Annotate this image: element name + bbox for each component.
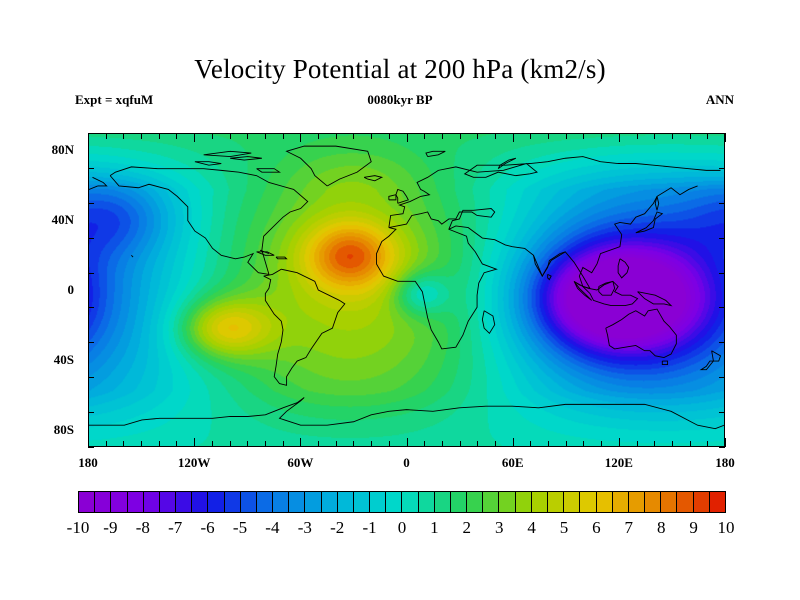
coastline-path [636, 212, 663, 233]
axis-tick [719, 273, 725, 274]
coastline-path [195, 162, 221, 165]
colorbar-cell [710, 492, 725, 512]
season-label: ANN [706, 92, 734, 108]
colorbar-cell [111, 492, 127, 512]
axis-tick [442, 133, 443, 139]
axis-tick [513, 133, 514, 142]
coastline-path [364, 176, 382, 181]
axis-tick [424, 133, 425, 139]
axis-tick [654, 441, 655, 447]
axis-tick [159, 441, 160, 447]
colorbar-cell [451, 492, 467, 512]
axis-tick [654, 133, 655, 139]
map-plot-area [88, 133, 725, 447]
coastline-path [89, 398, 724, 429]
colorbar-cell [305, 492, 321, 512]
colorbar-cell [483, 492, 499, 512]
coastline-path [574, 281, 638, 305]
x-axis-tick-label: 180 [58, 455, 118, 471]
colorbar-cell [144, 492, 160, 512]
coastline-path [606, 309, 677, 357]
coastline-path [264, 269, 345, 385]
axis-tick [672, 441, 673, 447]
colorbar-cell [128, 492, 144, 512]
axis-tick [619, 133, 620, 142]
coastline-path [574, 281, 592, 300]
coastline-path [89, 186, 98, 189]
axis-tick [566, 441, 567, 447]
axis-tick [690, 133, 691, 139]
coastline-path [662, 361, 667, 364]
coastline-path [701, 351, 720, 370]
colorbar-cell [694, 492, 710, 512]
colorbar-cell [580, 492, 596, 512]
axis-tick [141, 133, 142, 139]
axis-tick [719, 342, 725, 343]
axis-tick [407, 133, 408, 142]
axis-tick [88, 447, 94, 448]
x-axis-tick-label: 180 [695, 455, 755, 471]
experiment-label: Expt = xqfuM [75, 92, 153, 108]
coastline-path [276, 257, 287, 259]
coastline-path [110, 167, 308, 275]
axis-tick [371, 441, 372, 447]
axis-tick [212, 441, 213, 447]
axis-tick [283, 133, 284, 139]
axis-tick [601, 441, 602, 447]
axis-tick [176, 441, 177, 447]
axis-tick [719, 412, 725, 413]
axis-tick [247, 133, 248, 139]
axis-tick [707, 133, 708, 139]
axis-tick [513, 438, 514, 447]
axis-tick [707, 441, 708, 447]
axis-tick [88, 273, 94, 274]
axis-tick [719, 238, 725, 239]
axis-tick [672, 133, 673, 139]
axis-tick [389, 441, 390, 447]
axis-tick [637, 133, 638, 139]
axis-tick [123, 133, 124, 139]
axis-tick [88, 307, 94, 308]
axis-tick [106, 133, 107, 139]
x-axis-tick-label: 60W [270, 455, 330, 471]
y-axis-tick-label: 80N [28, 142, 74, 158]
axis-tick [318, 133, 319, 139]
axis-tick [159, 133, 160, 139]
colorbar-cell [564, 492, 580, 512]
colorbar-cell [435, 492, 451, 512]
axis-tick [619, 438, 620, 447]
axis-tick [719, 447, 725, 448]
axis-tick [230, 133, 231, 139]
x-axis-tick-label: 60E [483, 455, 543, 471]
x-axis-tick-label: 120W [164, 455, 224, 471]
coastline-path [618, 259, 629, 278]
colorbar [78, 491, 726, 513]
axis-tick [88, 377, 94, 378]
coastline-path [548, 274, 551, 279]
colorbar-cell [548, 492, 564, 512]
colorbar-cell [289, 492, 305, 512]
axis-tick [460, 441, 461, 447]
axis-tick [106, 441, 107, 447]
axis-tick [88, 412, 94, 413]
colorbar-tick-label: 10 [703, 518, 749, 538]
colorbar-cell [532, 492, 548, 512]
coastline-path [131, 255, 133, 257]
axis-tick [194, 133, 195, 142]
axis-tick [371, 133, 372, 139]
axis-tick [230, 441, 231, 447]
x-axis-tick-label: 120E [589, 455, 649, 471]
axis-tick [719, 377, 725, 378]
axis-tick [442, 441, 443, 447]
colorbar-cell [338, 492, 354, 512]
axis-tick [637, 441, 638, 447]
axis-tick [389, 133, 390, 139]
colorbar-cell [402, 492, 418, 512]
axis-tick [88, 168, 94, 169]
axis-tick [88, 238, 94, 239]
axis-tick [353, 133, 354, 139]
colorbar-cell [208, 492, 224, 512]
axis-tick [88, 203, 94, 204]
coastline-path [638, 292, 671, 306]
colorbar-cell [354, 492, 370, 512]
axis-tick [690, 441, 691, 447]
axis-tick [719, 168, 725, 169]
colorbar-cell [386, 492, 402, 512]
axis-tick [194, 438, 195, 447]
axis-tick [601, 133, 602, 139]
axis-tick [88, 438, 89, 447]
axis-tick [548, 441, 549, 447]
colorbar-cell [629, 492, 645, 512]
axis-tick [300, 133, 301, 142]
axis-tick [141, 441, 142, 447]
coastline-overlay [89, 134, 724, 446]
colorbar-cell [677, 492, 693, 512]
axis-tick [407, 438, 408, 447]
y-axis-tick-label: 40N [28, 212, 74, 228]
coastline-path [204, 151, 252, 156]
axis-tick [123, 441, 124, 447]
axis-tick [336, 441, 337, 447]
axis-tick [353, 441, 354, 447]
axis-tick [477, 441, 478, 447]
axis-tick [265, 133, 266, 139]
coastline-path [449, 186, 698, 288]
axis-tick [88, 342, 94, 343]
colorbar-cell [176, 492, 192, 512]
axis-tick [583, 133, 584, 139]
axis-tick [88, 133, 89, 142]
axis-tick [495, 133, 496, 139]
colorbar-cell [645, 492, 661, 512]
axis-tick [725, 438, 726, 447]
coastline-path [426, 151, 445, 156]
axis-tick [300, 438, 301, 447]
axis-tick [548, 133, 549, 139]
coastline-path [396, 189, 408, 203]
velocity-potential-figure: Velocity Potential at 200 hPa (km2/s) 00… [0, 0, 800, 600]
axis-tick [477, 133, 478, 139]
colorbar-cell [661, 492, 677, 512]
axis-tick [566, 133, 567, 139]
y-axis-tick-label: 40S [28, 352, 74, 368]
axis-tick [530, 133, 531, 139]
colorbar-cell [613, 492, 629, 512]
axis-tick [176, 133, 177, 139]
colorbar-cell [160, 492, 176, 512]
axis-tick [265, 441, 266, 447]
colorbar-cell [597, 492, 613, 512]
coastline-path [389, 195, 396, 200]
axis-tick [495, 441, 496, 447]
coastline-path [230, 157, 262, 160]
x-axis-tick-label: 0 [377, 455, 437, 471]
axis-tick [719, 203, 725, 204]
colorbar-cell [516, 492, 532, 512]
colorbar-cell [419, 492, 435, 512]
axis-tick [212, 133, 213, 139]
coastline-path [92, 177, 106, 186]
colorbar-cell [241, 492, 257, 512]
axis-tick [424, 441, 425, 447]
colorbar-cell [499, 492, 515, 512]
axis-tick [247, 441, 248, 447]
page-title: Velocity Potential at 200 hPa (km2/s) [0, 54, 800, 85]
coastline-path [287, 146, 372, 186]
axis-tick [336, 133, 337, 139]
colorbar-cell [322, 492, 338, 512]
colorbar-cell [467, 492, 483, 512]
axis-tick [719, 307, 725, 308]
colorbar-cell [79, 492, 95, 512]
axis-tick [583, 441, 584, 447]
coastline-path [389, 157, 721, 228]
y-axis-tick-label: 80S [28, 422, 74, 438]
y-axis-tick-label: 0 [28, 282, 74, 298]
axis-tick [460, 133, 461, 139]
coastline-path [376, 209, 496, 349]
coastline-path [482, 311, 494, 334]
axis-tick [283, 441, 284, 447]
axis-tick [530, 441, 531, 447]
axis-tick [318, 441, 319, 447]
colorbar-cell [257, 492, 273, 512]
axis-tick [725, 133, 726, 142]
colorbar-cell [192, 492, 208, 512]
coastline-path [257, 169, 280, 172]
colorbar-cell [225, 492, 241, 512]
colorbar-cell [370, 492, 386, 512]
colorbar-cell [273, 492, 289, 512]
colorbar-cell [95, 492, 111, 512]
